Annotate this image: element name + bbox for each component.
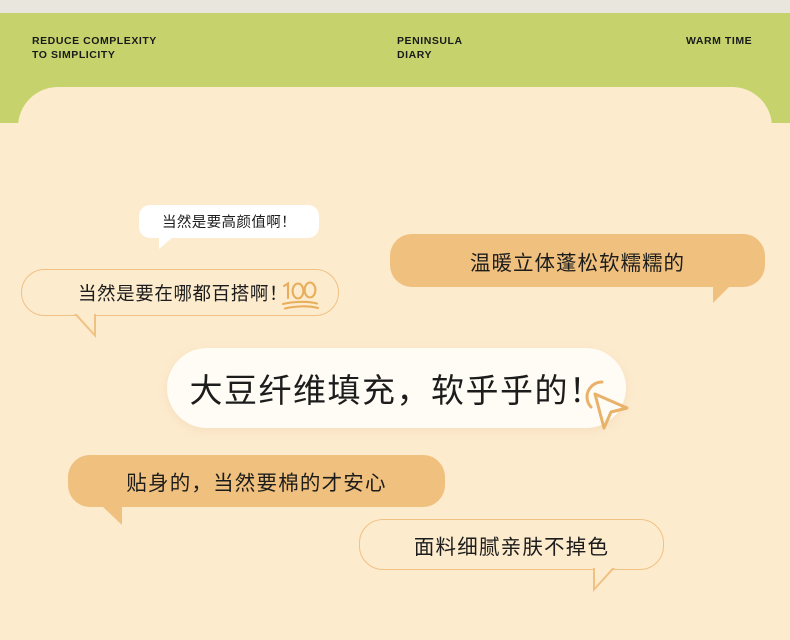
speech-bubble-quality: 当然是要高颜值啊！ — [139, 205, 319, 238]
speech-bubble-warm: 温暖立体蓬松软糯糯的 — [390, 234, 765, 287]
speech-bubble-cotton-text: 贴身的，当然要棉的才安心 — [126, 466, 386, 496]
speech-bubble-hero: 大豆纤维填充，软乎乎的！ — [167, 348, 626, 428]
hundred-points-emoji-icon — [277, 275, 321, 313]
speech-bubble-fabric-text: 面料细腻亲肤不掉色 — [414, 530, 609, 560]
speech-bubble-fabric: 面料细腻亲肤不掉色 — [359, 519, 664, 570]
speech-bubble-quality-text: 当然是要高颜值啊！ — [162, 211, 296, 232]
speech-bubble-group: 当然是要高颜值啊！ 温暖立体蓬松软糯糯的 当然是要在哪都百搭啊！ — [0, 0, 790, 640]
speech-bubble-cotton: 贴身的，当然要棉的才安心 — [68, 455, 445, 507]
click-cursor-icon — [571, 374, 637, 432]
speech-bubble-hero-text: 大豆纤维填充，软乎乎的！ — [190, 364, 604, 412]
speech-bubble-versatile-text: 当然是要在哪都百搭啊！ — [78, 280, 288, 306]
speech-bubble-warm-text: 温暖立体蓬松软糯糯的 — [470, 246, 685, 276]
product-detail-page: REDUCE COMPLEXITY TO SIMPLICITY PENINSUL… — [0, 0, 790, 640]
